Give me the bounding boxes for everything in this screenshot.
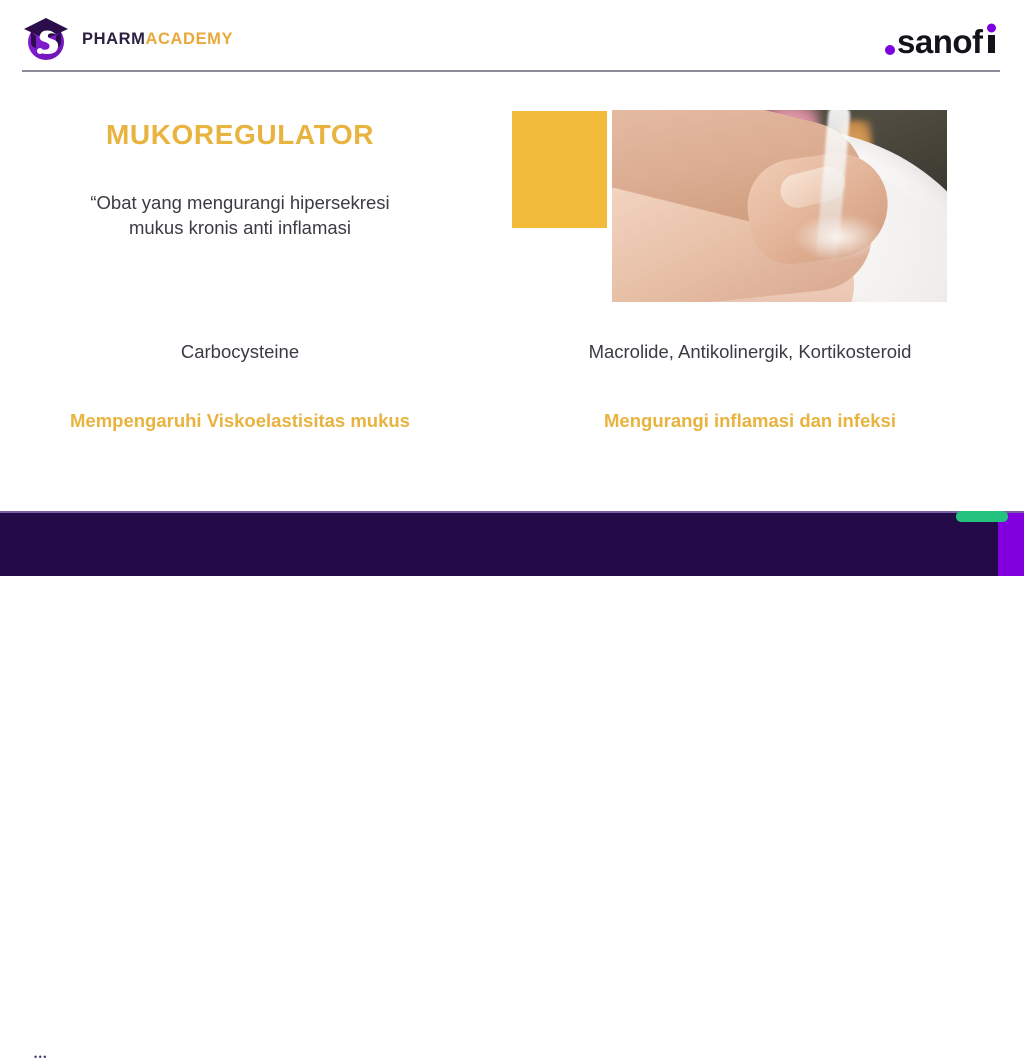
- handwashing-photo: [612, 110, 947, 302]
- right-drug-name: Macrolide, Antikolinergik, Kortikosteroi…: [580, 340, 920, 400]
- footer-green-accent: [956, 511, 1008, 522]
- svg-text:sanof: sanof: [897, 23, 984, 58]
- header-divider: [22, 70, 1000, 72]
- left-column: MUKOREGULATOR “Obat yang mengurangi hipe…: [60, 108, 420, 241]
- page-title: MUKOREGULATOR: [60, 120, 420, 151]
- brand-word-part2: ACADEMY: [146, 30, 234, 48]
- right-effect-text: Mengurangi inflamasi dan infeksi: [580, 408, 920, 435]
- sanofi-logo: sanof: [884, 20, 1002, 58]
- left-effect-text: Mempengaruhi Viskoelastisitas mukus: [60, 408, 420, 435]
- brand-wordmark: PHARMACADEMY: [82, 31, 233, 48]
- graduation-cap-s-logo-icon: [22, 14, 70, 64]
- page-header: PHARMACADEMY sanof: [0, 0, 1024, 78]
- brand-word-part1: PHARM: [82, 30, 146, 48]
- page-footer: •••: [0, 513, 1024, 576]
- left-drug-name: Carbocysteine: [60, 340, 420, 400]
- footer-purple-accent: [998, 513, 1024, 576]
- decorative-yellow-block: [512, 111, 607, 228]
- photo-water-splash: [794, 214, 884, 260]
- definition-quote: “Obat yang mengurangi hipersekresi mukus…: [60, 191, 420, 241]
- footer-dots: •••: [34, 1053, 48, 1062]
- brand-logo: PHARMACADEMY: [22, 14, 233, 64]
